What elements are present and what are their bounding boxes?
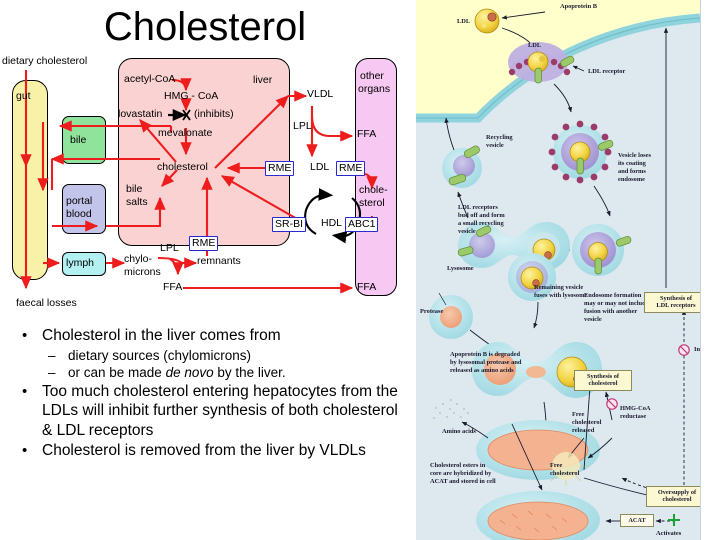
list-item: • Too much cholesterol entering hepatocy… xyxy=(8,382,412,441)
lpl-vldl-label: LPL xyxy=(293,121,312,133)
bullet-list: • Cholesterol in the liver comes from – … xyxy=(8,326,412,462)
apoprotein-b-label: Apoprotein B xyxy=(560,3,597,11)
liver-label: liver xyxy=(253,74,272,86)
recycling-vesicle-label-line1: Recycling xyxy=(486,134,513,142)
bullet-text: dietary sources (chylomicrons) xyxy=(68,348,251,363)
mevalonate-label: mevalonate xyxy=(158,128,212,140)
bullet-marker: • xyxy=(22,382,27,402)
hdl-label: HDL xyxy=(321,218,342,230)
bullet-marker: – xyxy=(48,347,56,365)
list-item: • Cholesterol in the liver comes from xyxy=(8,326,412,346)
rme-ldl-organs-box[interactable]: RME xyxy=(336,161,365,176)
right-margin xyxy=(701,0,720,540)
organs-cholesterol-label-line1: chole- xyxy=(359,185,388,197)
free-cholesterol-released-label-line1: Free xyxy=(572,411,584,419)
list-item: – or can be made de novo by the liver. xyxy=(8,364,412,382)
rme-ldl-liver-box[interactable]: RME xyxy=(265,161,294,176)
acetyl-coa-label: acetyl-CoA xyxy=(124,74,175,86)
bullet-text: Cholesterol is removed from the liver by… xyxy=(42,442,366,459)
faecal-losses-label: faecal losses xyxy=(16,298,77,310)
ldl-outside-label: LDL xyxy=(457,18,470,26)
cholesterol-liver-label: cholesterol xyxy=(157,162,208,174)
remaining-vesicle-label-line1: Remaining vesicle xyxy=(534,284,583,292)
other-organs-label-line1: other xyxy=(360,70,384,82)
vldl-label: VLDL xyxy=(307,89,333,101)
oversupply-line1: Oversupply of xyxy=(658,489,696,496)
bile-salts-label-line1: bile xyxy=(126,184,142,196)
endosome-formation-label-line2: may or may not include xyxy=(584,300,649,308)
bullet-text-pre: or can be made xyxy=(68,365,166,380)
apoprotein-degraded-label-line1: Apoprotein B is degraded xyxy=(450,351,520,359)
synthesis-ldl-receptors-line1: Synthesis of xyxy=(660,295,692,302)
ffa-organs-bottom-label: FFA xyxy=(357,282,376,294)
endosome-formation-label-line3: fusion with another xyxy=(584,308,637,316)
bullet-text: Cholesterol in the liver comes from xyxy=(42,327,281,344)
receptors-bud-off-label-line3: a small recycling xyxy=(458,220,504,228)
synthesis-of-ldl-receptors-box[interactable]: Synthesis of LDL receptors xyxy=(644,292,700,313)
synthesis-ldl-receptors-line2: LDL receptors xyxy=(656,302,695,309)
chylomicrons-label-line1: chylo- xyxy=(124,254,152,266)
ldl-label: LDL xyxy=(310,162,329,174)
receptors-bud-off-label-line4: vesicle xyxy=(458,228,476,236)
protease-label: Protease xyxy=(420,308,443,316)
ffa-chylomicron-label: FFA xyxy=(163,282,182,294)
recycling-vesicle-label-line2: vesicle xyxy=(486,142,504,150)
ffa-organs-top-label: FFA xyxy=(357,129,376,141)
lysosome-label: Lysosome xyxy=(447,265,474,273)
oversupply-line2: cholesterol xyxy=(663,496,692,503)
free-cholesterol-label-line2: cholesterol xyxy=(550,470,579,478)
apoprotein-degraded-label-line2: by lysosomal protease and xyxy=(450,359,521,367)
vesicle-loses-coating-label-line3: and forms xyxy=(618,168,646,176)
bullet-marker: • xyxy=(22,326,27,346)
receptors-bud-off-label-line2: bud off and form xyxy=(458,212,505,220)
amino-acids-label: Amino acids xyxy=(442,428,476,436)
free-cholesterol-released-label-line3: released xyxy=(572,427,594,435)
organs-cholesterol-label-line2: sterol xyxy=(359,198,385,210)
remnants-label: remnants xyxy=(197,256,241,268)
bullet-marker: – xyxy=(48,364,56,382)
free-cholesterol-label-line1: Free xyxy=(550,462,562,470)
endosome-formation-label-line4: vesicle xyxy=(584,316,602,324)
activates-label: Activates xyxy=(656,530,681,538)
vesicle-loses-coating-label-line2: its coating xyxy=(618,160,646,168)
vesicle-loses-coating-label-line4: endosome xyxy=(618,176,645,184)
sr-bi-box[interactable]: SR-BI xyxy=(272,217,306,232)
free-cholesterol-released-label-line2: cholesterol xyxy=(572,419,601,427)
lymph-label: lymph xyxy=(66,257,94,269)
cholesterol-esters-label-line1: Cholesterol esters in xyxy=(430,462,485,470)
bullet-text-italic: de novo xyxy=(166,365,214,380)
ldl-receptor-label: LDL receptor xyxy=(588,68,625,76)
hmg-coa-reductase-label-line1: HMG-CoA xyxy=(620,405,651,413)
portal-blood-label-line1: portal xyxy=(66,195,92,207)
rme-remnants-box[interactable]: RME xyxy=(189,236,218,251)
chylomicrons-label-line2: microns xyxy=(124,267,161,279)
gut-label: gut xyxy=(16,90,31,102)
ldl-receptor-endocytosis-pathway-figure: Apoprotein B LDL LDL LDL receptor Recycl… xyxy=(416,0,700,540)
apoprotein-degraded-label-line3: released as amino acids xyxy=(450,367,514,375)
acat-label: ACAT xyxy=(628,517,645,524)
other-organs-label-line2: organs xyxy=(358,83,390,95)
hmg-coa-label: HMG - CoA xyxy=(164,91,218,103)
lovastatin-label: lovastatin xyxy=(118,109,162,121)
list-item: – dietary sources (chylomicrons) xyxy=(8,347,412,365)
synthesis-cholesterol-line1: Synthesis of xyxy=(587,373,619,380)
abc1-box[interactable]: ABC1 xyxy=(345,217,378,232)
synthesis-cholesterol-line2: cholesterol xyxy=(589,380,618,387)
cholesterol-esters-label-line2: core are hybridized by xyxy=(430,470,491,478)
ldl-bound-label: LDL xyxy=(528,42,541,50)
bile-label: bile xyxy=(70,134,86,146)
bullet-text: Too much cholesterol entering hepatocyte… xyxy=(42,383,398,439)
oversupply-of-cholesterol-box[interactable]: Oversupply of cholesterol xyxy=(646,486,700,507)
acat-box[interactable]: ACAT xyxy=(620,514,654,527)
bullet-marker: • xyxy=(22,441,27,461)
bile-salts-label-line2: salts xyxy=(126,197,148,209)
lpl-chylomicron-label: LPL xyxy=(160,243,179,255)
portal-blood-label-line2: blood xyxy=(66,208,92,220)
dietary-cholesterol-label: dietary cholesterol xyxy=(2,56,87,68)
endosome-formation-label-line1: Endosome formation xyxy=(584,292,641,300)
bullet-text-post: by the liver. xyxy=(214,365,286,380)
page-title: Cholesterol xyxy=(0,2,410,52)
cholesterol-esters-label-line3: ACAT and stored in cell xyxy=(430,478,496,486)
synthesis-of-cholesterol-box[interactable]: Synthesis of cholesterol xyxy=(574,370,632,391)
inhibits-label: (inhibits) xyxy=(194,109,234,121)
vesicle-loses-coating-label-line1: Vesicle loses xyxy=(618,152,651,160)
hmg-coa-reductase-label-line2: reductase xyxy=(620,413,646,421)
cholesterol-transport-flow-diagram: gut bile portal blood lymph liver other … xyxy=(0,58,412,316)
receptors-bud-off-label-line1: LDL receptors xyxy=(458,204,498,212)
remaining-vesicle-label-line2: fuses with lysosome xyxy=(534,292,587,300)
list-item: • Cholesterol is removed from the liver … xyxy=(8,441,412,461)
